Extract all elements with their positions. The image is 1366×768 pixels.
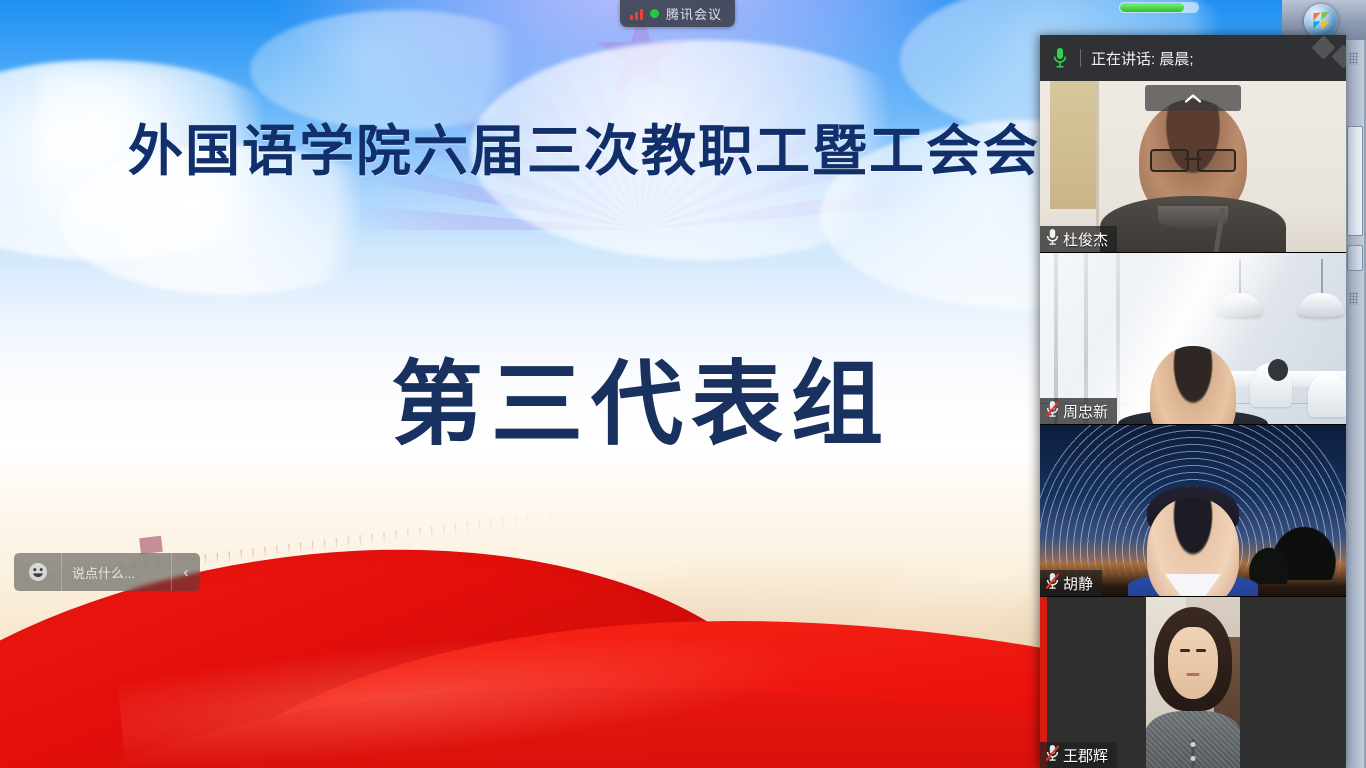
tencent-meeting-pill[interactable]: 腾讯会议	[620, 0, 735, 27]
chat-input[interactable]: 说点什么...	[62, 553, 172, 591]
tencent-meeting-label: 腾讯会议	[666, 4, 722, 23]
green-dot-icon	[650, 9, 659, 18]
scrollbar-grip-top	[1349, 52, 1358, 65]
participant-name-badge: 杜俊杰	[1040, 226, 1117, 252]
scrollbar-thumb[interactable]	[1347, 126, 1363, 236]
watermark-decoration	[1315, 39, 1346, 65]
signal-bars-icon	[630, 8, 643, 20]
participant-video-panel: 正在讲话: 晨晨;	[1040, 35, 1346, 768]
chat-input-placeholder: 说点什么...	[72, 563, 135, 582]
participant-name-badge: 胡静	[1040, 570, 1102, 596]
participant-name: 胡静	[1063, 573, 1093, 594]
participant-tile[interactable]: 王郡辉	[1040, 597, 1346, 768]
progress-fill	[1120, 3, 1184, 12]
participant-tile[interactable]: 周忠新	[1040, 253, 1346, 425]
participant-tile[interactable]: 胡静	[1040, 425, 1346, 597]
participant-name: 周忠新	[1063, 401, 1108, 422]
great-wall-tower	[139, 536, 163, 555]
screen: 外国语学院六届三次教职工暨工会会员 第三代表组 说点什么... ‹ 腾讯会议	[0, 0, 1366, 768]
participant-name: 杜俊杰	[1063, 229, 1108, 250]
microphone-muted-icon	[1046, 572, 1059, 595]
cloud-decoration	[250, 10, 550, 130]
microphone-active-icon	[1050, 45, 1070, 71]
scrollbar-down-button[interactable]	[1347, 245, 1363, 271]
microphone-icon	[1046, 228, 1059, 251]
participant-name-badge: 周忠新	[1040, 398, 1117, 424]
scrollbar-grip-bottom	[1349, 292, 1358, 305]
taskbar-strip	[1272, 0, 1366, 40]
windows-logo-icon[interactable]	[1304, 4, 1338, 38]
microphone-muted-icon	[1046, 400, 1059, 423]
chevron-left-icon[interactable]: ‹	[172, 553, 200, 591]
header-divider	[1080, 49, 1081, 67]
microphone-muted-icon	[1046, 744, 1059, 767]
participant-name: 王郡辉	[1063, 745, 1108, 766]
participant-tile[interactable]: 杜俊杰	[1040, 81, 1346, 253]
volume-progress-bar[interactable]	[1120, 3, 1198, 12]
slide-title: 外国语学院六届三次教职工暨工会会员	[128, 120, 1158, 185]
chevron-up-icon[interactable]	[1145, 85, 1241, 111]
speaking-status-text: 正在讲话: 晨晨;	[1091, 48, 1194, 69]
chat-input-bar[interactable]: 说点什么... ‹	[14, 553, 200, 591]
participant-name-badge: 王郡辉	[1040, 742, 1117, 768]
smiley-face-icon[interactable]	[14, 553, 62, 591]
speaking-status-header: 正在讲话: 晨晨;	[1040, 35, 1346, 81]
